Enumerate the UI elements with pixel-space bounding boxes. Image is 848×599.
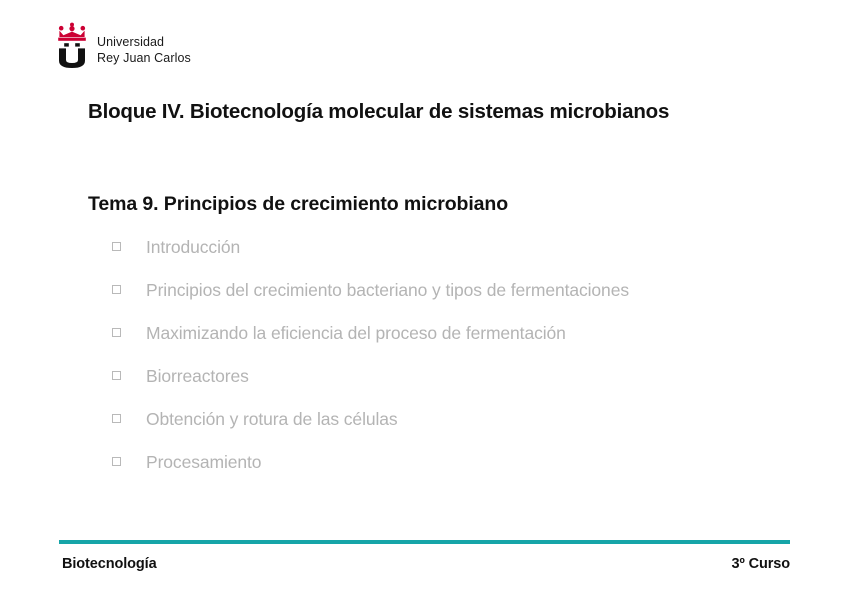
list-item-label: Biorreactores [146, 366, 249, 387]
footer-course-year: 3º Curso [732, 556, 790, 572]
footer-divider [59, 540, 790, 544]
university-name-line2: Rey Juan Carlos [97, 50, 191, 66]
block-title: Bloque IV. Biotecnología molecular de si… [88, 100, 808, 124]
slide-footer: Biotecnología 3º Curso [62, 556, 790, 572]
university-name-line1: Universidad [97, 34, 191, 50]
university-logo: Universidad Rey Juan Carlos [56, 22, 191, 68]
university-name: Universidad Rey Juan Carlos [97, 34, 191, 68]
list-item-label: Maximizando la eficiencia del proceso de… [146, 323, 566, 344]
hollow-square-bullet-icon [112, 285, 121, 294]
hollow-square-bullet-icon [112, 414, 121, 423]
list-item: Principios del crecimiento bacteriano y … [112, 280, 812, 323]
list-item: Biorreactores [112, 366, 812, 409]
list-item: Obtención y rotura de las células [112, 409, 812, 452]
footer-course-name: Biotecnología [62, 556, 157, 572]
hollow-square-bullet-icon [112, 242, 121, 251]
topic-outline-list: Introducción Principios del crecimiento … [112, 237, 812, 495]
hollow-square-bullet-icon [112, 457, 121, 466]
list-item-label: Procesamiento [146, 452, 261, 473]
list-item: Maximizando la eficiencia del proceso de… [112, 323, 812, 366]
hollow-square-bullet-icon [112, 328, 121, 337]
list-item-label: Introducción [146, 237, 240, 258]
list-item-label: Obtención y rotura de las células [146, 409, 398, 430]
urjc-crown-u-logo-icon [56, 22, 88, 68]
slide: Universidad Rey Juan Carlos Bloque IV. B… [0, 0, 848, 599]
slide-headings: Bloque IV. Biotecnología molecular de si… [88, 100, 808, 216]
list-item: Procesamiento [112, 452, 812, 495]
topic-title: Tema 9. Principios de crecimiento microb… [88, 193, 808, 216]
list-item-label: Principios del crecimiento bacteriano y … [146, 280, 629, 301]
hollow-square-bullet-icon [112, 371, 121, 380]
list-item: Introducción [112, 237, 812, 280]
